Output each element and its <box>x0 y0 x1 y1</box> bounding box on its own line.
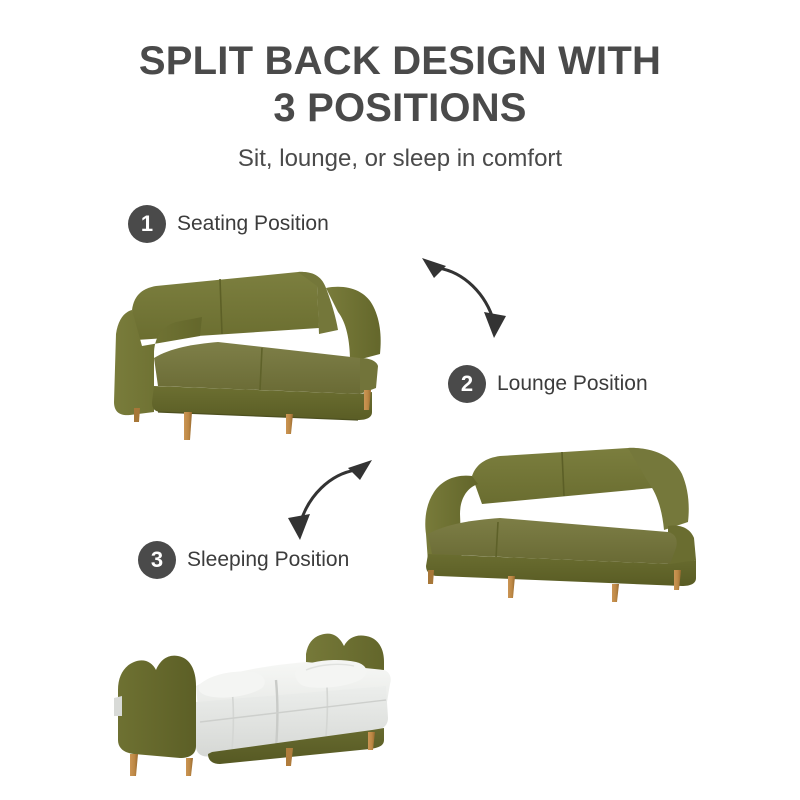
title-line-2: 3 POSITIONS <box>0 85 800 132</box>
page-subtitle: Sit, lounge, or sleep in comfort <box>0 144 800 174</box>
sofa-seating-position-image <box>110 262 420 442</box>
sofa-leg-front-right <box>286 414 293 434</box>
sofa-leg-front-left <box>184 412 192 440</box>
arrow-head-upper-right <box>348 460 372 480</box>
sofa-sleeping-position-image <box>100 612 400 777</box>
bed-leg-center <box>286 748 293 766</box>
sofa-lounge-position-image <box>412 442 712 602</box>
step-sleeping-position: 3 Sleeping Position <box>138 541 349 579</box>
arrow-head-lower-left <box>288 514 310 540</box>
step-seating-position: 1 Seating Position <box>128 205 329 243</box>
sofa-leg-back-left <box>428 570 434 584</box>
sofa-back-left-panel <box>132 272 319 340</box>
step-label-2: Lounge Position <box>497 372 648 396</box>
sofa-seat-cushion-right <box>360 358 378 394</box>
duvet-center-fold <box>276 680 278 748</box>
sofa-leg-front-right <box>612 584 619 602</box>
sofa-leg-front-left <box>508 576 515 598</box>
step-badge-3: 3 <box>138 541 176 579</box>
bed-leg-front-left <box>130 754 138 776</box>
step-label-1: Seating Position <box>177 212 329 236</box>
sofa-leg-back-left <box>134 408 140 422</box>
arrow-seating-to-lounge <box>412 246 522 351</box>
step-label-3: Sleeping Position <box>187 548 349 572</box>
step-badge-1: 1 <box>128 205 166 243</box>
arrow-head-lower-right <box>484 312 506 338</box>
infographic-page: SPLIT BACK DESIGN WITH 3 POSITIONS Sit, … <box>0 0 800 800</box>
step-lounge-position: 2 Lounge Position <box>448 365 648 403</box>
bed-leg-front-left-inner <box>186 758 193 776</box>
bed-sheet-tuck-left <box>114 696 122 716</box>
arrow-head-upper-left <box>422 258 446 278</box>
step-badge-2: 2 <box>448 365 486 403</box>
bed-left-arm <box>118 656 196 758</box>
arrow-lounge-to-sleeping <box>272 446 382 551</box>
sofa-leg-back-right <box>674 570 681 590</box>
page-title: SPLIT BACK DESIGN WITH 3 POSITIONS <box>0 38 800 132</box>
title-line-1: SPLIT BACK DESIGN WITH <box>0 38 800 85</box>
